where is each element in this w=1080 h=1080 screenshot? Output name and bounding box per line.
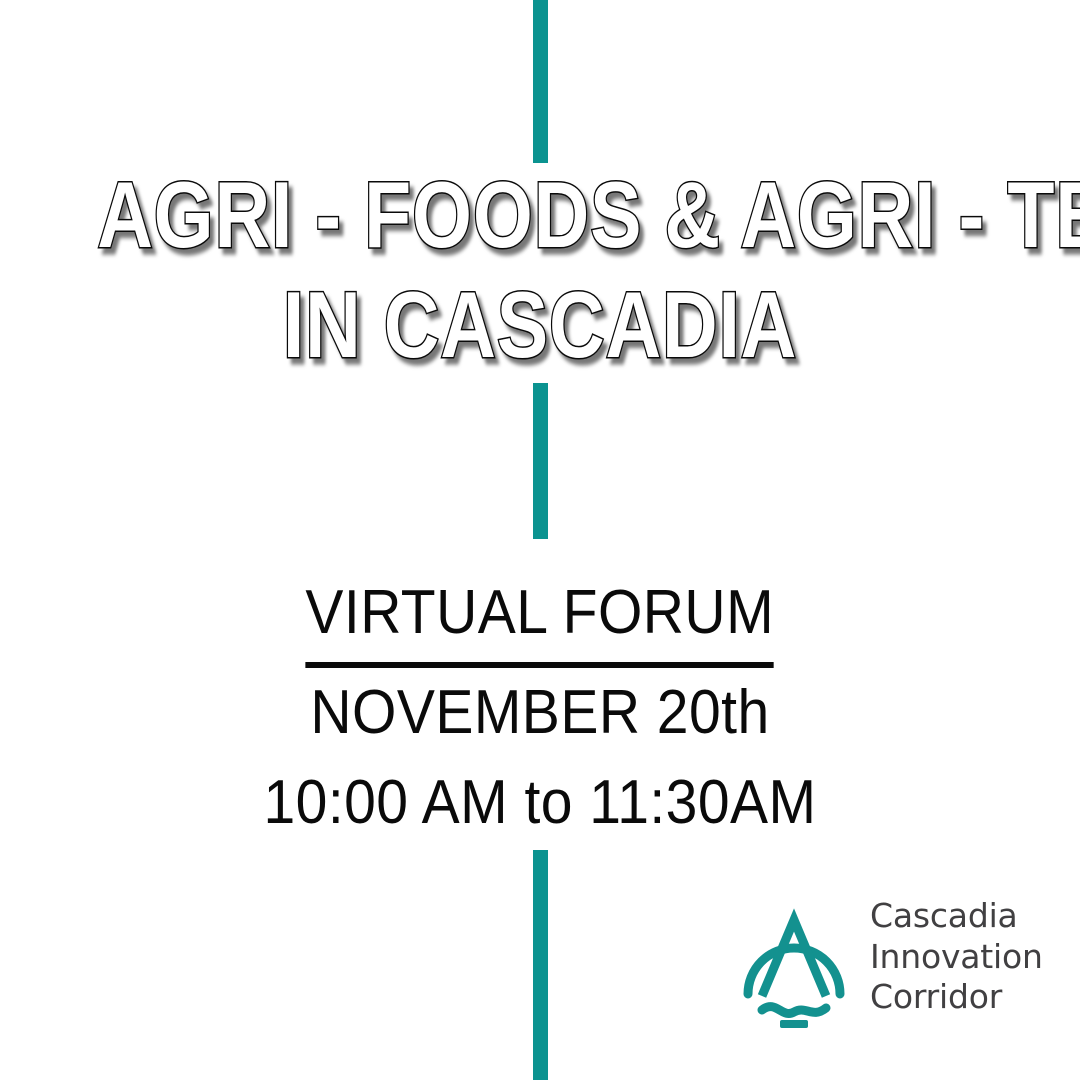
cascadia-innovation-corridor-logo: Cascadia Innovation Corridor (732, 884, 1062, 1030)
forum-label-wrap: VIRTUAL FORUM (0, 568, 1080, 668)
divider-rule-middle (533, 383, 548, 539)
event-details-block: VIRTUAL FORUM NOVEMBER 20th 10:00 AM to … (0, 568, 1080, 848)
poster-canvas: AGRI - FOODS & AGRI - TECH IN CASCADIA V… (0, 0, 1080, 1080)
logo-word-line-3: Corridor (870, 977, 1043, 1018)
divider-rule-top (533, 0, 548, 163)
lightbulb-arc-mountain-icon (732, 886, 856, 1028)
headline-block: AGRI - FOODS & AGRI - TECH IN CASCADIA (0, 168, 1080, 372)
logo-word-line-1: Cascadia (870, 896, 1043, 937)
event-time: 10:00 AM to 11:30AM (43, 758, 1037, 848)
event-date: NOVEMBER 20th (43, 668, 1037, 758)
divider-rule-bottom (533, 850, 548, 1080)
logo-word-line-2: Innovation (870, 937, 1043, 978)
headline-line-1: AGRI - FOODS & AGRI - TECH (97, 168, 983, 262)
event-type-label: VIRTUAL FORUM (306, 568, 775, 668)
headline-line-2: IN CASCADIA (97, 278, 983, 372)
logo-wordmark: Cascadia Innovation Corridor (870, 896, 1043, 1018)
